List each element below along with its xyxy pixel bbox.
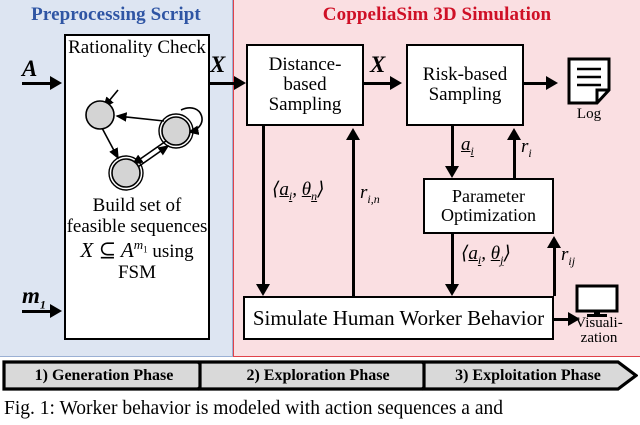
- vis-caption-line2: zation: [581, 330, 618, 346]
- label-r-out-sub: ij: [568, 254, 575, 268]
- simulate-behavior-box: Simulate Human Worker Behavior: [243, 296, 554, 340]
- label-pair-in-a-sub: i: [289, 189, 292, 203]
- edge-a-input-head: [50, 76, 62, 90]
- rationality-check-label: Rationality Check: [64, 38, 210, 59]
- panel-preprocessing-title: Preprocessing Script: [0, 4, 232, 26]
- build-set-line1: Build set of: [93, 195, 182, 216]
- edge-risk-to-param-head: [445, 166, 459, 178]
- label-pair-out-a: a: [468, 243, 478, 264]
- build-set-label: Build set of feasible sequences X ⊆ Am1 …: [64, 196, 210, 284]
- edge-dist-to-risk-head: [390, 76, 402, 90]
- dist-line2: based: [269, 75, 342, 95]
- edge-param-to-sim-head: [445, 284, 459, 296]
- edge-sim-to-param: [553, 248, 556, 296]
- param-line2: Optimization: [441, 206, 536, 225]
- risk-line2: Sampling: [423, 85, 507, 105]
- dist-line3: Sampling: [269, 95, 342, 115]
- edge-param-to-risk-head: [507, 128, 521, 140]
- edge-sim-to-param-head: [547, 236, 561, 248]
- label-x-mid: X: [370, 52, 385, 78]
- fsm-edge-c-b: [135, 146, 168, 169]
- edge-sim-to-dist-head: [346, 128, 360, 140]
- label-a-i-sub: i: [471, 144, 474, 158]
- label-pair-in: ⟨ai, θn⟩: [272, 178, 325, 204]
- phase-exploration-label: 2) Exploration Phase: [246, 367, 389, 385]
- phase-item-exploration[interactable]: 2) Exploration Phase: [208, 360, 428, 391]
- phase-exploitation-label: 3) Exploitation Phase: [455, 367, 601, 385]
- formula-superscript: m1: [134, 237, 148, 252]
- label-input-a: A: [22, 56, 37, 82]
- build-set-line2: feasible: [67, 216, 126, 237]
- formula-base: X ⊆ A: [80, 238, 133, 262]
- fsm-node-c: [112, 159, 140, 187]
- edge-a-input: [22, 82, 52, 85]
- log-document-icon: [566, 56, 612, 106]
- distance-based-sampling-box: Distance- based Sampling: [246, 44, 364, 126]
- label-a-i-base: a: [461, 134, 471, 155]
- vis-caption-line1: Visuali-: [575, 315, 622, 331]
- label-pair-out-theta-sub: j: [500, 253, 503, 267]
- fsm-edge-a-c: [102, 128, 118, 158]
- risk-based-sampling-box: Risk-based Sampling: [406, 44, 524, 126]
- label-r-in: ri,n: [360, 182, 380, 207]
- label-input-m1: m1: [22, 283, 46, 313]
- fsm-node-b: [162, 117, 190, 145]
- phase-item-exploitation[interactable]: 3) Exploitation Phase: [430, 360, 626, 391]
- fsm-edge-b-a: [117, 116, 164, 121]
- edge-param-to-sim: [451, 234, 454, 290]
- param-line1: Parameter: [441, 187, 536, 206]
- rationality-check-line2: Check: [157, 37, 206, 58]
- rationality-check-line1: Rationality: [68, 37, 152, 58]
- edge-pre-to-dist-head: [234, 76, 246, 90]
- label-pair-in-theta-sub: n: [311, 189, 317, 203]
- label-input-m1-sub: 1: [40, 298, 46, 312]
- visualization-icon-caption: Visuali- zation: [566, 316, 632, 347]
- parameter-optimization-box: Parameter Optimization: [423, 178, 554, 234]
- edge-param-to-risk: [513, 140, 516, 180]
- label-r-i-sub: i: [528, 146, 531, 160]
- label-x-left: X: [210, 52, 225, 78]
- phase-item-generation[interactable]: 1) Generation Phase: [6, 360, 202, 391]
- dist-line1: Distance-: [269, 55, 342, 75]
- label-pair-out: ⟨ai, θj⟩: [461, 242, 511, 268]
- edge-dist-to-sim-head: [256, 284, 270, 296]
- edge-sim-to-dist: [352, 140, 355, 296]
- risk-line1: Risk-based: [423, 65, 507, 85]
- edge-m1-input-head: [50, 304, 62, 318]
- label-pair-out-theta: θ: [491, 243, 500, 264]
- phase-banner: 1) Generation Phase 2) Exploration Phase…: [2, 360, 638, 391]
- visualization-monitor-icon: [574, 284, 620, 318]
- label-pair-out-a-sub: i: [478, 253, 481, 267]
- fsm-node-start: [86, 101, 114, 129]
- edge-risk-to-param: [451, 126, 454, 170]
- label-r-i: ri: [521, 136, 532, 161]
- build-set-line3: sequences: [130, 216, 207, 237]
- edge-dist-to-sim: [262, 126, 265, 290]
- log-icon-caption: Log: [566, 107, 612, 122]
- figure-root: Preprocessing Script CoppeliaSim 3D Simu…: [0, 0, 640, 425]
- label-input-m1-base: m: [22, 283, 40, 308]
- label-pair-in-theta: θ: [302, 179, 311, 200]
- label-r-out: rij: [561, 244, 575, 269]
- simulate-label: Simulate Human Worker Behavior: [253, 307, 544, 329]
- label-r-in-sub: i,n: [367, 192, 379, 206]
- label-a-i: ai: [461, 134, 474, 159]
- build-set-formula: X ⊆ Am1: [80, 238, 147, 262]
- figure-caption: Fig. 1: Worker behavior is modeled with …: [4, 398, 640, 420]
- label-pair-in-a: a: [279, 179, 289, 200]
- fsm-state-graph: [69, 88, 205, 196]
- panel-simulation-title: CoppeliaSim 3D Simulation: [234, 4, 640, 26]
- formula-sup-base: m: [134, 237, 143, 252]
- phase-generation-label: 1) Generation Phase: [35, 367, 174, 385]
- edge-risk-to-log-head: [546, 76, 558, 90]
- formula-sup-sub: 1: [143, 244, 148, 254]
